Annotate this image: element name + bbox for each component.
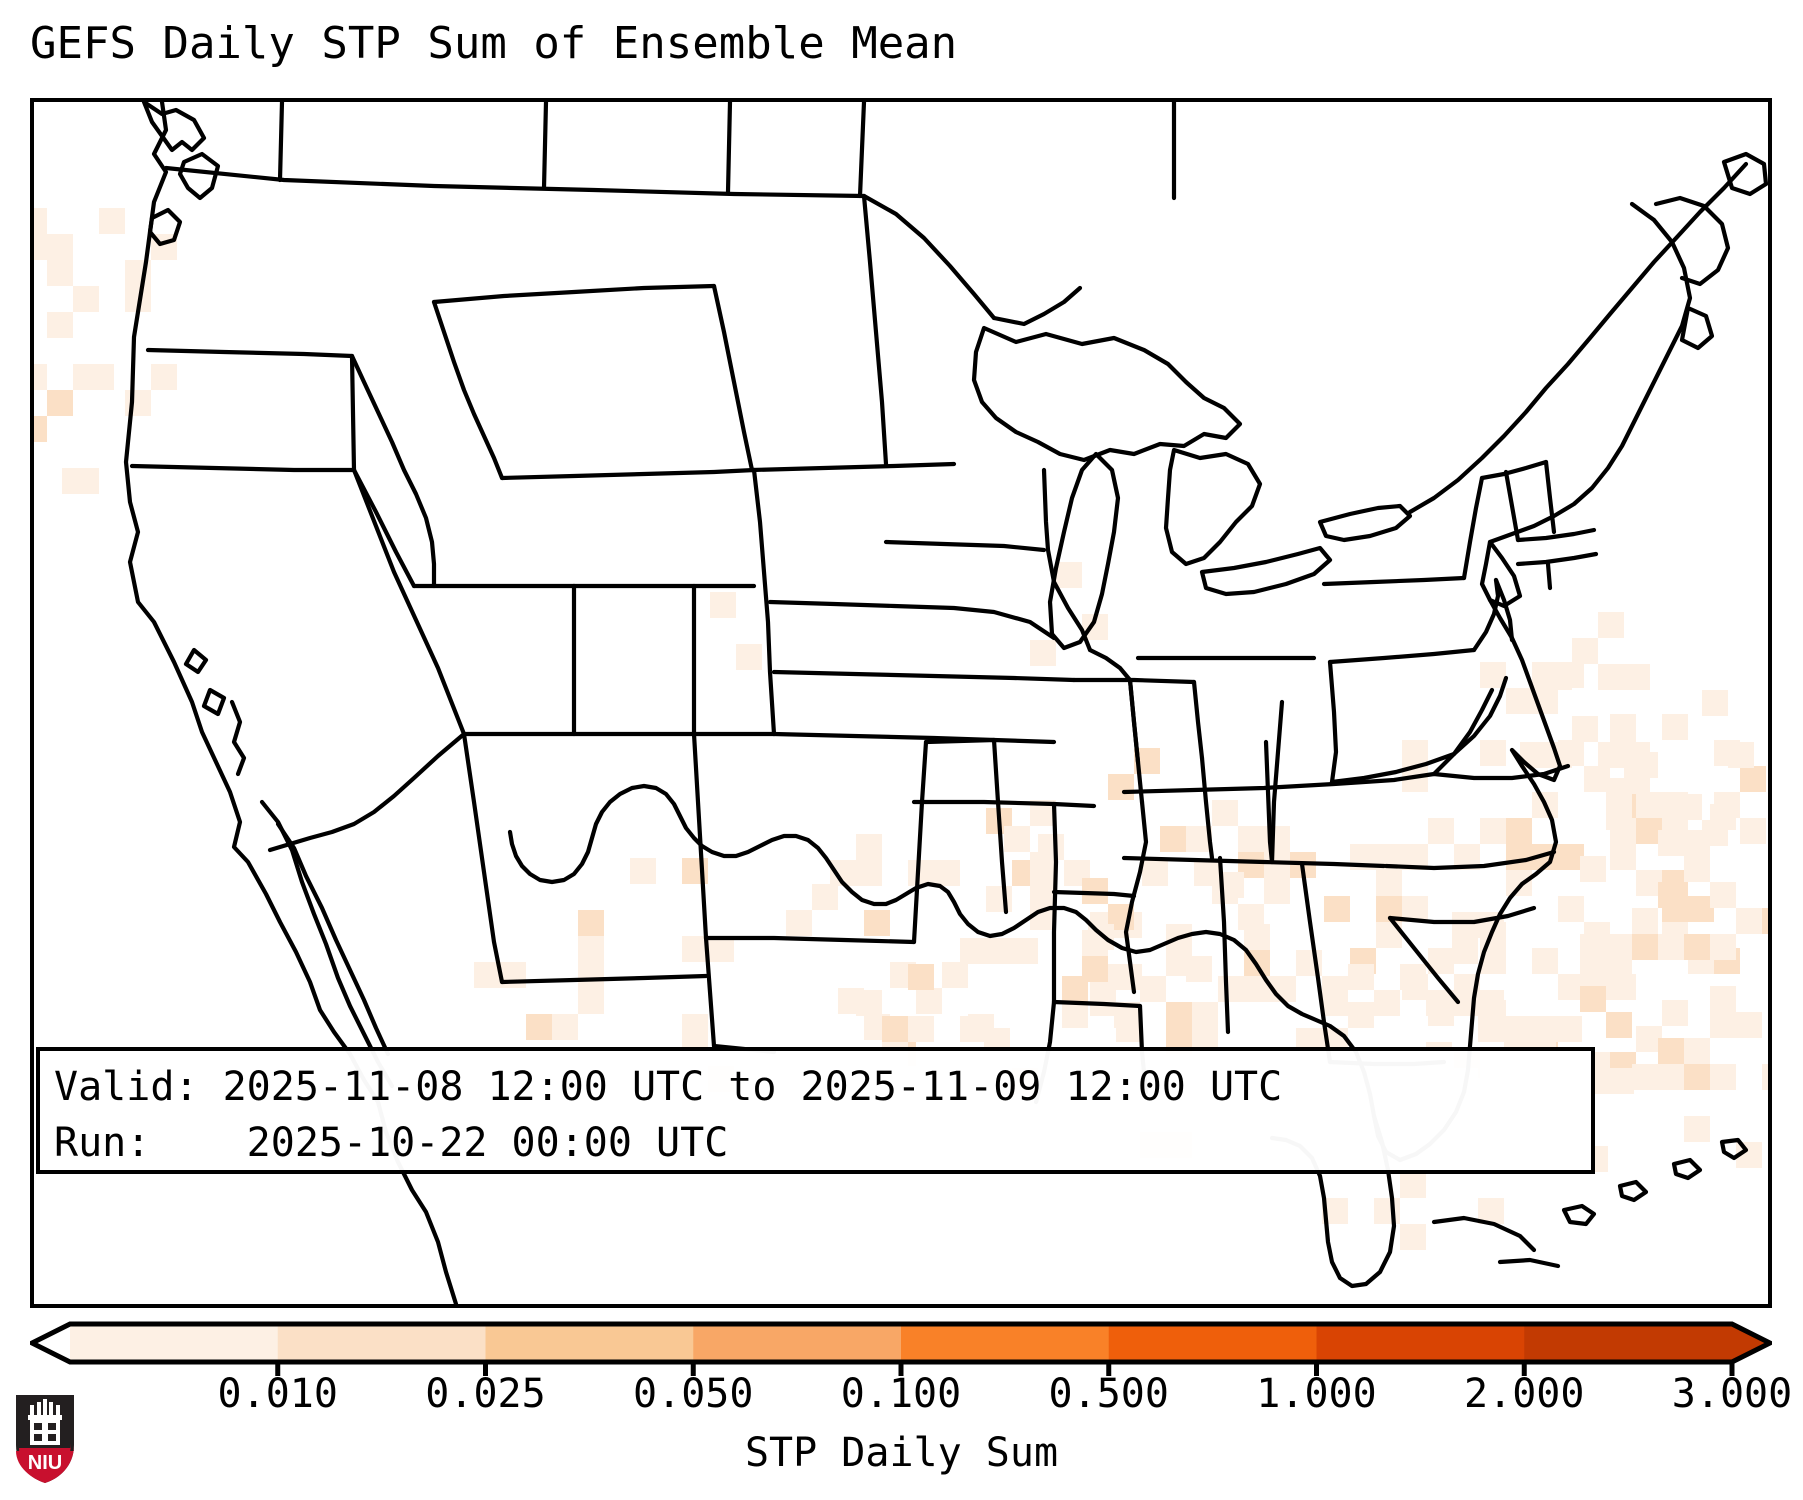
colorbar-tick-label: 3.000 — [1672, 1372, 1792, 1416]
colorbar-swatches — [30, 1312, 1772, 1376]
colorbar-tick-label: 1.000 — [1256, 1372, 1376, 1416]
niu-logo-text: NIU — [28, 1452, 62, 1474]
colorbar-tick-label: 0.100 — [841, 1372, 961, 1416]
colorbar-tick-labels: 0.0100.0250.0500.1000.5001.0002.0003.000 — [30, 1372, 1772, 1418]
colorbar-tick-label: 0.050 — [633, 1372, 753, 1416]
colorbar-axis-label: STP Daily Sum — [0, 1430, 1803, 1476]
page-title: GEFS Daily STP Sum of Ensemble Mean — [30, 18, 957, 70]
run-time-text: Run: 2025-10-22 00:00 UTC — [54, 1115, 1577, 1171]
forecast-info-box: Valid: 2025-11-08 12:00 UTC to 2025-11-0… — [36, 1047, 1595, 1174]
colorbar-tick-label: 2.000 — [1464, 1372, 1584, 1416]
colorbar-tick-label: 0.010 — [218, 1372, 338, 1416]
colorbar-tick-label: 0.500 — [1049, 1372, 1169, 1416]
niu-logo: NIU — [14, 1393, 76, 1485]
colorbar — [30, 1312, 1772, 1360]
weather-map-figure: GEFS Daily STP Sum of Ensemble Mean — [0, 0, 1803, 1500]
colorbar-tick-label: 0.025 — [425, 1372, 545, 1416]
valid-time-text: Valid: 2025-11-08 12:00 UTC to 2025-11-0… — [54, 1059, 1577, 1115]
